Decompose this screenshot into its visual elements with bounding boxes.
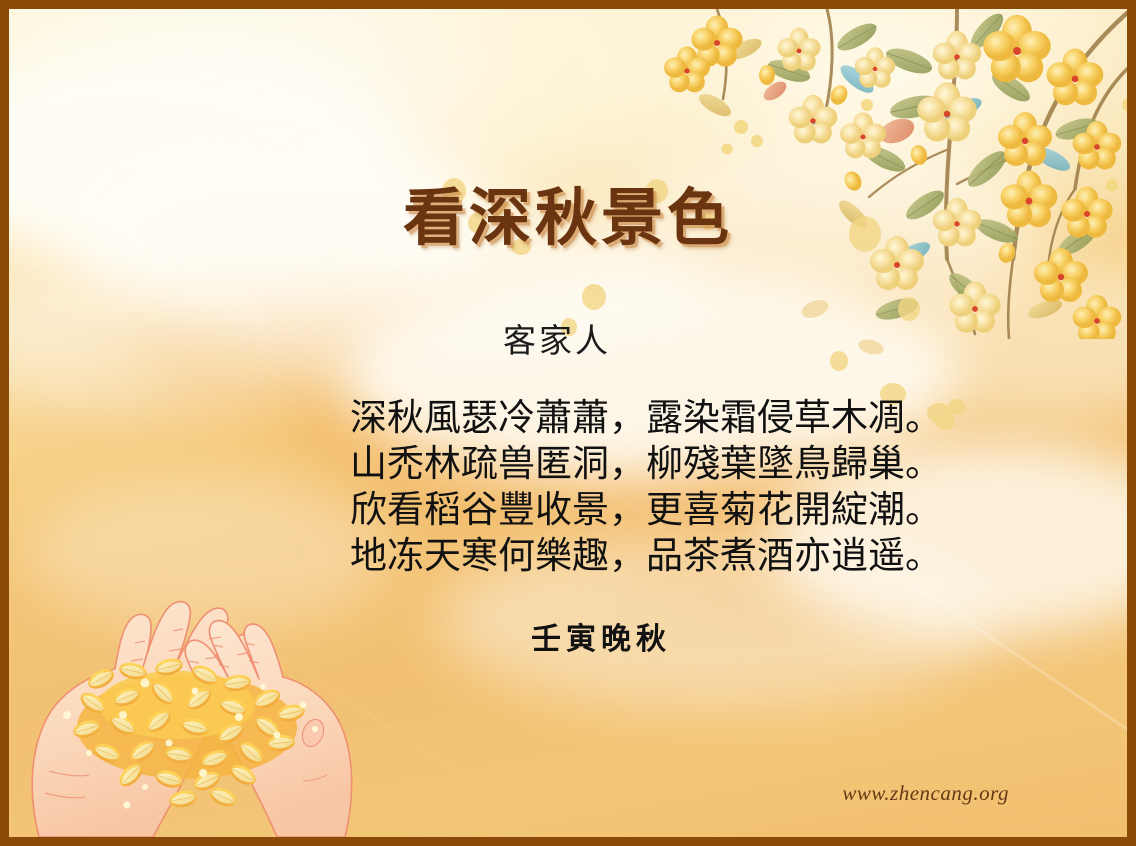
poem-line: 山禿林疏兽匿洞，柳殘葉墜鳥歸巢。 bbox=[350, 441, 942, 487]
poem-body: 深秋風瑟冷蕭蕭，露染霜侵草木凋。 山禿林疏兽匿洞，柳殘葉墜鳥歸巢。 欣看稻谷豐收… bbox=[350, 395, 942, 579]
poem-date: 壬寅晚秋 bbox=[9, 614, 1127, 658]
poem-line: 地冻天寒何樂趣，品茶煮酒亦逍遥。 bbox=[350, 533, 942, 579]
poem-line: 深秋風瑟冷蕭蕭，露染霜侵草木凋。 bbox=[350, 395, 942, 441]
poem-line: 欣看稻谷豐收景，更喜菊花開綻潮。 bbox=[350, 487, 942, 533]
poem-poster: 看深秋景色 客家人 深秋風瑟冷蕭蕭，露染霜侵草木凋。 山禿林疏兽匿洞，柳殘葉墜鳥… bbox=[0, 0, 1136, 846]
floral-corner-illustration bbox=[657, 9, 1127, 339]
page-title: 看深秋景色 bbox=[9, 187, 1127, 249]
watermark: www.zhencang.org bbox=[842, 781, 1009, 806]
poem-author: 客家人 bbox=[9, 314, 1127, 362]
